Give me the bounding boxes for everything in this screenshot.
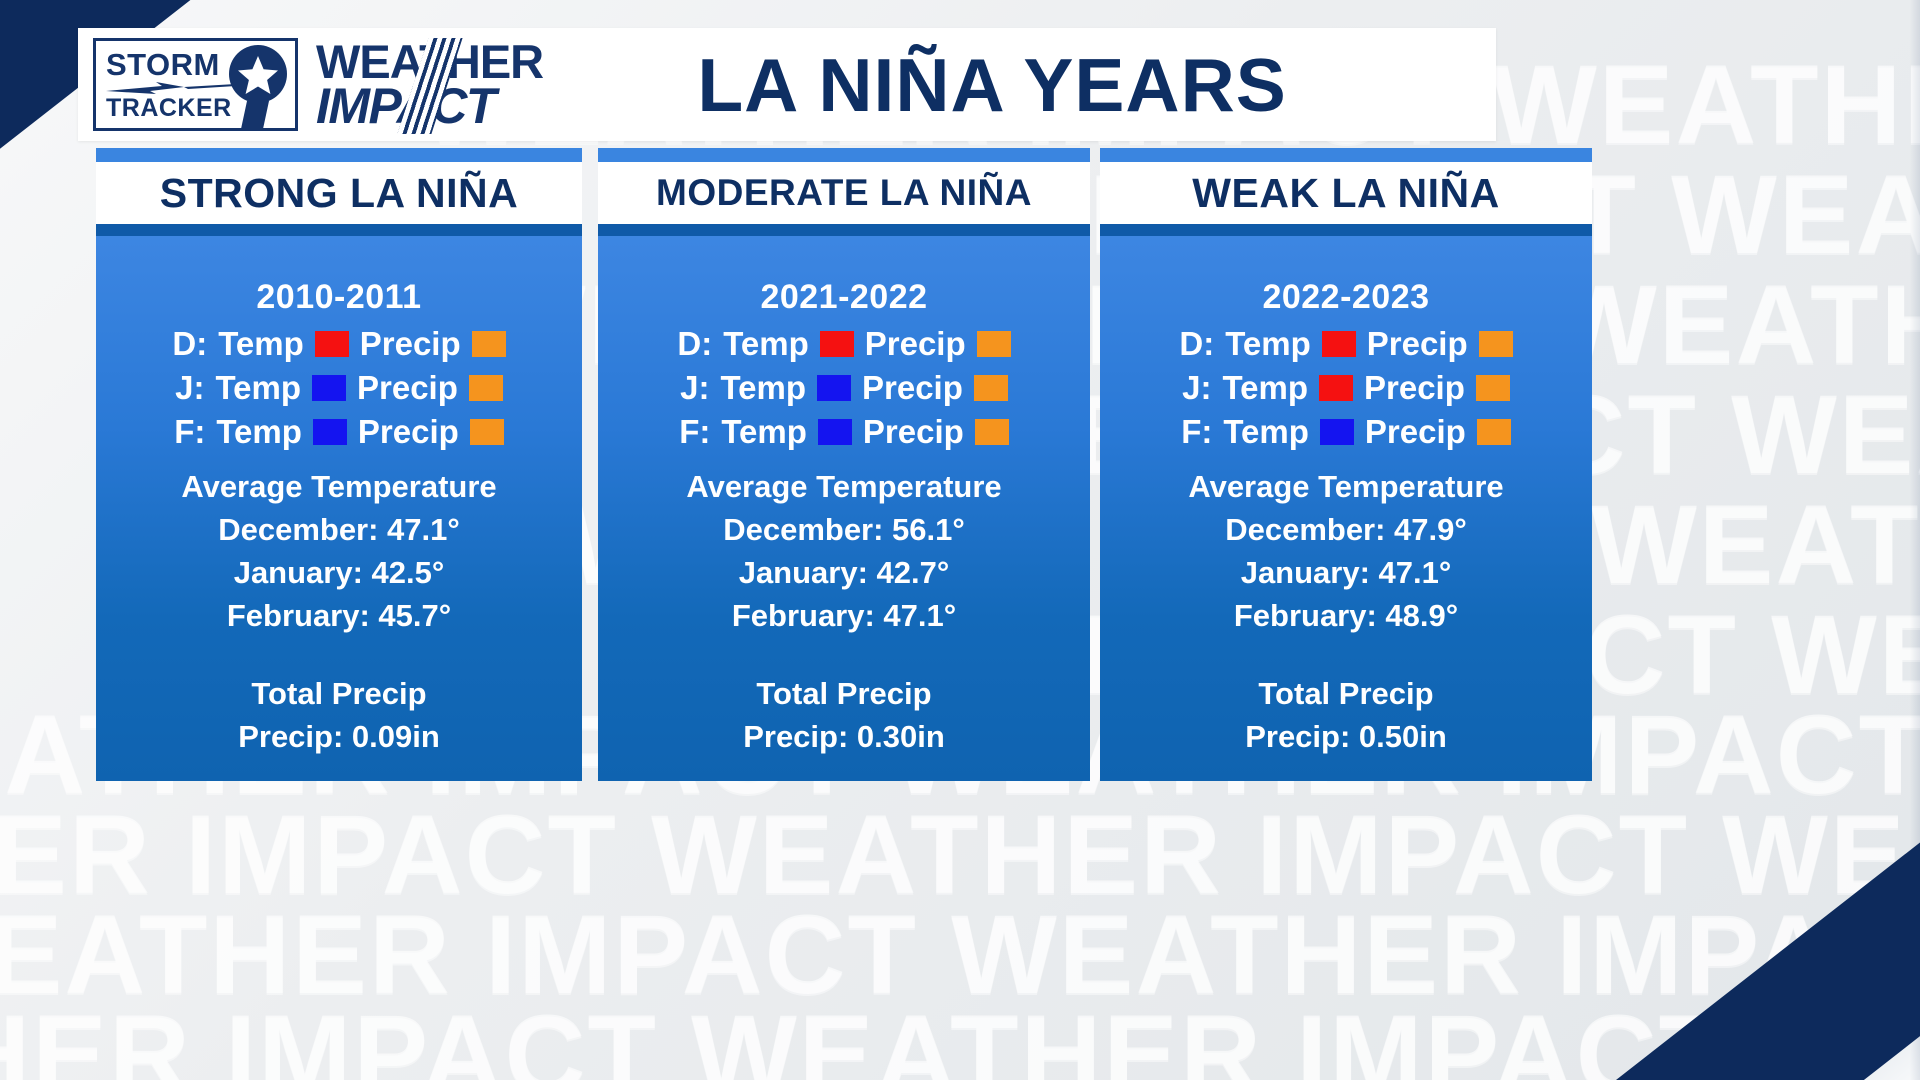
- panel-header: WEAK LA NIÑA: [1100, 162, 1592, 224]
- corner-accent-bottom-right: [1443, 784, 1920, 1080]
- average-temperature-january: January: 47.1°: [1110, 555, 1582, 591]
- month-key: J:: [175, 369, 204, 407]
- average-temperature-heading: Average Temperature: [1110, 469, 1582, 505]
- month-key: D:: [172, 325, 207, 363]
- panel-header: STRONG LA NIÑA: [96, 162, 582, 224]
- average-temperature-january: January: 42.7°: [608, 555, 1080, 591]
- month-key: F:: [1181, 413, 1212, 451]
- precip-swatch: [470, 419, 504, 445]
- average-temperature-february: February: 48.9°: [1110, 598, 1582, 634]
- total-precip-value: Precip: 0.09in: [106, 719, 572, 755]
- average-temperature-december: December: 47.1°: [106, 512, 572, 548]
- month-row-february: F: Temp Precip: [1110, 413, 1582, 451]
- month-row-january: J: Temp Precip: [1110, 369, 1582, 407]
- month-row-february: F: Temp Precip: [608, 413, 1080, 451]
- month-row-january: J: Temp Precip: [106, 369, 572, 407]
- precip-label: Precip: [360, 325, 461, 363]
- panel-body: 2021-2022 D: Temp Precip J: Temp Precip: [598, 236, 1090, 781]
- month-row-december: D: Temp Precip: [1110, 325, 1582, 363]
- temp-label: Temp: [215, 369, 301, 407]
- temp-label: Temp: [1225, 325, 1311, 363]
- spacer: [106, 634, 572, 676]
- month-row-december: D: Temp Precip: [106, 325, 572, 363]
- precip-label: Precip: [1364, 369, 1465, 407]
- precip-label: Precip: [863, 413, 964, 451]
- panel-header-label: MODERATE LA NIÑA: [656, 172, 1032, 214]
- average-temperature-february: February: 45.7°: [106, 598, 572, 634]
- temp-swatch: [820, 331, 854, 357]
- panel-header-bottom-bar: [598, 224, 1090, 236]
- panel-season-years: 2022-2023: [1110, 278, 1582, 317]
- precip-swatch: [975, 419, 1009, 445]
- panel-header-label: WEAK LA NIÑA: [1192, 170, 1499, 217]
- panel-header-bottom-bar: [96, 224, 582, 236]
- temp-label: Temp: [1222, 369, 1308, 407]
- precip-label: Precip: [1367, 325, 1468, 363]
- precip-swatch: [1476, 375, 1510, 401]
- month-row-december: D: Temp Precip: [608, 325, 1080, 363]
- month-row-february: F: Temp Precip: [106, 413, 572, 451]
- average-temperature-february: February: 47.1°: [608, 598, 1080, 634]
- page-title: LA NIÑA YEARS: [543, 42, 1496, 128]
- month-key: F:: [679, 413, 710, 451]
- temp-swatch: [313, 419, 347, 445]
- storm-tracker-logo-storm-text: STORM: [106, 49, 220, 80]
- panel-header-label: STRONG LA NIÑA: [160, 170, 519, 217]
- month-key: D:: [677, 325, 712, 363]
- average-temperature-heading: Average Temperature: [106, 469, 572, 505]
- temp-label: Temp: [1223, 413, 1309, 451]
- channel-nine-star-icon: [225, 45, 291, 129]
- temp-swatch: [312, 375, 346, 401]
- total-precip-heading: Total Precip: [106, 676, 572, 712]
- month-key: J:: [680, 369, 709, 407]
- precip-swatch: [974, 375, 1008, 401]
- precip-label: Precip: [862, 369, 963, 407]
- precip-label: Precip: [865, 325, 966, 363]
- average-temperature-heading: Average Temperature: [608, 469, 1080, 505]
- temp-label: Temp: [723, 325, 809, 363]
- panel-strong-la-nina: STRONG LA NIÑA 2010-2011 D: Temp Precip …: [96, 148, 582, 781]
- temp-swatch: [817, 375, 851, 401]
- temp-label: Temp: [720, 369, 806, 407]
- precip-swatch: [977, 331, 1011, 357]
- panel-body: 2022-2023 D: Temp Precip J: Temp Precip: [1100, 236, 1592, 781]
- panel-header-top-bar: [598, 148, 1090, 162]
- total-precip-heading: Total Precip: [1110, 676, 1582, 712]
- precip-swatch: [469, 375, 503, 401]
- spacer: [1110, 634, 1582, 676]
- precip-label: Precip: [357, 369, 458, 407]
- panel-moderate-la-nina: MODERATE LA NIÑA 2021-2022 D: Temp Preci…: [598, 148, 1090, 781]
- month-key: J:: [1182, 369, 1211, 407]
- month-key: F:: [174, 413, 205, 451]
- total-precip-heading: Total Precip: [608, 676, 1080, 712]
- weather-graphic-stage: WEATHER IMPACT WEATHER IMPACT WEATHER IM…: [0, 0, 1920, 1080]
- precip-swatch: [1479, 331, 1513, 357]
- storm-tracker-logo-tracker-text: TRACKER: [106, 96, 232, 121]
- temp-label: Temp: [216, 413, 302, 451]
- panel-weak-la-nina: WEAK LA NIÑA 2022-2023 D: Temp Precip J:…: [1100, 148, 1592, 781]
- precip-label: Precip: [1365, 413, 1466, 451]
- temp-swatch: [818, 419, 852, 445]
- panel-season-years: 2010-2011: [106, 278, 572, 317]
- watermark-line: WEATHER IMPACT WEATHER IMPACT WEATHER IM…: [0, 890, 1920, 1019]
- month-row-january: J: Temp Precip: [608, 369, 1080, 407]
- lightning-bolt-icon: [106, 82, 236, 94]
- weather-impact-lockup: WEATHER IMPACT: [316, 41, 543, 128]
- temp-swatch: [315, 331, 349, 357]
- temp-swatch: [1322, 331, 1356, 357]
- temp-swatch: [1319, 375, 1353, 401]
- panel-header-top-bar: [1100, 148, 1592, 162]
- storm-tracker-logo: STORM TRACKER: [93, 38, 298, 131]
- month-key: D:: [1179, 325, 1214, 363]
- temp-label: Temp: [721, 413, 807, 451]
- panel-body: 2010-2011 D: Temp Precip J: Temp Precip: [96, 236, 582, 781]
- average-temperature-december: December: 56.1°: [608, 512, 1080, 548]
- average-temperature-january: January: 42.5°: [106, 555, 572, 591]
- right-edge-shade: [1894, 0, 1920, 1080]
- average-temperature-december: December: 47.9°: [1110, 512, 1582, 548]
- panel-header: MODERATE LA NIÑA: [598, 162, 1090, 224]
- temp-swatch: [1320, 419, 1354, 445]
- panel-header-top-bar: [96, 148, 582, 162]
- temp-label: Temp: [218, 325, 304, 363]
- watermark-line: WEATHER IMPACT WEATHER IMPACT WEATHER IM…: [0, 790, 1920, 919]
- panel-row: STRONG LA NIÑA 2010-2011 D: Temp Precip …: [78, 148, 1878, 708]
- precip-swatch: [472, 331, 506, 357]
- panel-header-bottom-bar: [1100, 224, 1592, 236]
- total-precip-value: Precip: 0.30in: [608, 719, 1080, 755]
- total-precip-value: Precip: 0.50in: [1110, 719, 1582, 755]
- panel-season-years: 2021-2022: [608, 278, 1080, 317]
- precip-swatch: [1477, 419, 1511, 445]
- precip-label: Precip: [358, 413, 459, 451]
- spacer: [608, 634, 1080, 676]
- top-banner: STORM TRACKER WEATHER IMPACT LA NIÑ: [78, 28, 1496, 141]
